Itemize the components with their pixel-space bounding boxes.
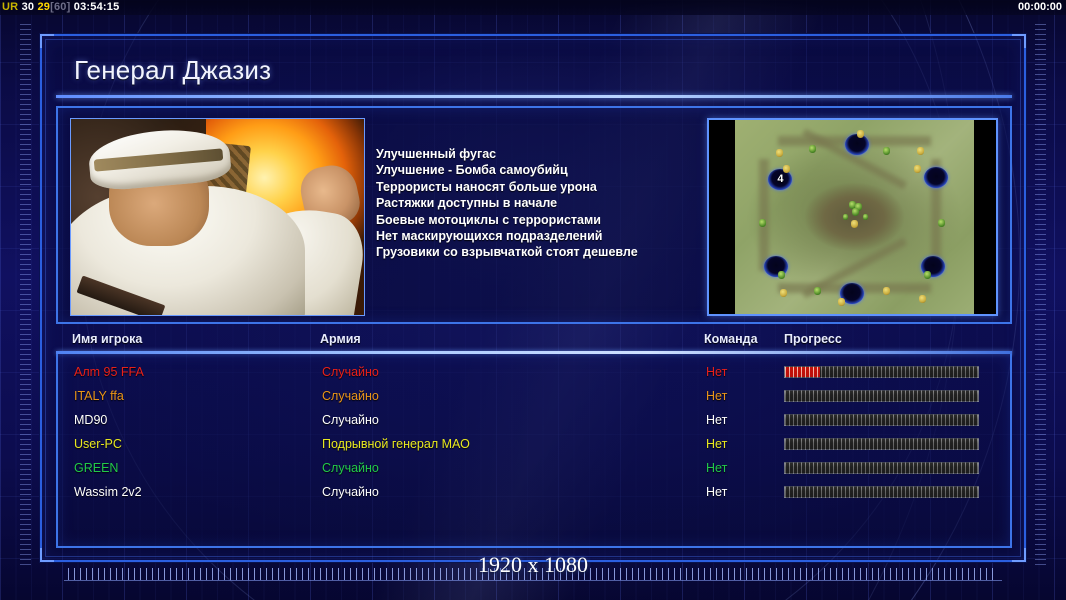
- table-header-row: Имя игрока Армия Команда Прогресс: [56, 332, 1012, 354]
- player-progress-bar: [784, 414, 979, 426]
- status-value-2: 29: [37, 1, 50, 13]
- table-row[interactable]: GREENСлучайноНет: [58, 456, 1010, 480]
- description-line: Боевые мотоциклы с террористами: [376, 212, 756, 228]
- description-line: Растяжки доступны в начале: [376, 195, 756, 211]
- player-army[interactable]: Случайно: [322, 360, 379, 384]
- map-preview[interactable]: 4: [707, 118, 998, 316]
- game-lobby-screen: UR 30 29[60] 03:54:15 00:00:00 Генерал Д…: [0, 0, 1066, 600]
- player-team[interactable]: Нет: [706, 456, 727, 480]
- page-title: Генерал Джазиз: [56, 48, 1012, 92]
- player-team[interactable]: Нет: [706, 480, 727, 504]
- description-line: Террористы наносят больше урона: [376, 179, 756, 195]
- map-center-resources: [835, 199, 875, 235]
- player-army[interactable]: Случайно: [322, 456, 379, 480]
- player-name: Алm 95 FFA: [74, 360, 144, 384]
- status-value-1: 30: [22, 1, 35, 13]
- player-progress-bar: [784, 390, 979, 402]
- map-start-position: [924, 167, 948, 188]
- description-line: Нет маскирующихся подразделений: [376, 228, 756, 244]
- table-row[interactable]: ITALY ffaСлучайноНет: [58, 384, 1010, 408]
- tick-baseline: [64, 580, 1002, 581]
- column-header-army: Армия: [320, 332, 361, 346]
- player-name: MD90: [74, 408, 107, 432]
- table-row[interactable]: Алm 95 FFAСлучайноНет: [58, 360, 1010, 384]
- player-army[interactable]: Случайно: [322, 480, 379, 504]
- ruler-left: [20, 24, 31, 569]
- player-team[interactable]: Нет: [706, 408, 727, 432]
- description-line: Грузовики со взрывчаткой стоят дешевле: [376, 244, 756, 260]
- table-row[interactable]: MD90СлучайноНет: [58, 408, 1010, 432]
- general-portrait: [70, 118, 365, 316]
- lobby-panel: Генерал Джазиз Улучшенный фугас Улучшен: [40, 34, 1026, 562]
- frame-corner: [1012, 34, 1026, 48]
- description-line: Улучшенный фугас: [376, 146, 756, 162]
- table-row[interactable]: User-PCПодрывной генерал МАОНет: [58, 432, 1010, 456]
- player-name: Wassim 2v2: [74, 480, 142, 504]
- status-clock: 03:54:15: [74, 1, 120, 13]
- player-army[interactable]: Случайно: [322, 384, 379, 408]
- player-progress-bar: [784, 366, 979, 378]
- status-bar: UR 30 29[60] 03:54:15 00:00:00: [0, 0, 1066, 15]
- status-max: [60]: [50, 1, 70, 13]
- player-team[interactable]: Нет: [706, 432, 727, 456]
- title-bar: Генерал Джазиз: [56, 48, 1012, 98]
- general-description: Улучшенный фугас Улучшение - Бомба самоу…: [376, 146, 756, 261]
- status-bar-left: UR 30 29[60] 03:54:15: [2, 0, 119, 15]
- player-army[interactable]: Случайно: [322, 408, 379, 432]
- player-name: GREEN: [74, 456, 118, 480]
- status-clock-right: 00:00:00: [1018, 0, 1062, 15]
- player-progress-bar: [784, 486, 979, 498]
- player-name: ITALY ffa: [74, 384, 124, 408]
- table-row[interactable]: Wassim 2v2СлучайноНет: [58, 480, 1010, 504]
- resolution-label: 1920 x 1080: [0, 552, 1066, 578]
- map-start-label: [924, 167, 948, 188]
- column-header-team: Команда: [704, 332, 758, 346]
- map-terrain: 4: [735, 120, 974, 314]
- player-name: User-PC: [74, 432, 122, 456]
- frame-corner: [40, 34, 54, 48]
- table-body: Алm 95 FFAСлучайноНетITALY ffaСлучайноНе…: [56, 354, 1012, 548]
- player-table: Имя игрока Армия Команда Прогресс Алm 95…: [56, 332, 1012, 548]
- column-header-progress: Прогресс: [784, 332, 842, 346]
- player-progress-bar: [784, 462, 979, 474]
- player-army[interactable]: Подрывной генерал МАО: [322, 432, 470, 456]
- player-team[interactable]: Нет: [706, 360, 727, 384]
- player-team[interactable]: Нет: [706, 384, 727, 408]
- player-progress-fill: [785, 367, 820, 377]
- info-panel: Улучшенный фугас Улучшение - Бомба самоу…: [56, 106, 1012, 324]
- status-label: UR: [2, 1, 18, 13]
- player-progress-bar: [784, 438, 979, 450]
- title-underline: [56, 95, 1012, 98]
- column-header-name: Имя игрока: [72, 332, 142, 346]
- ruler-right: [1035, 24, 1046, 569]
- description-line: Улучшение - Бомба самоубийц: [376, 162, 756, 178]
